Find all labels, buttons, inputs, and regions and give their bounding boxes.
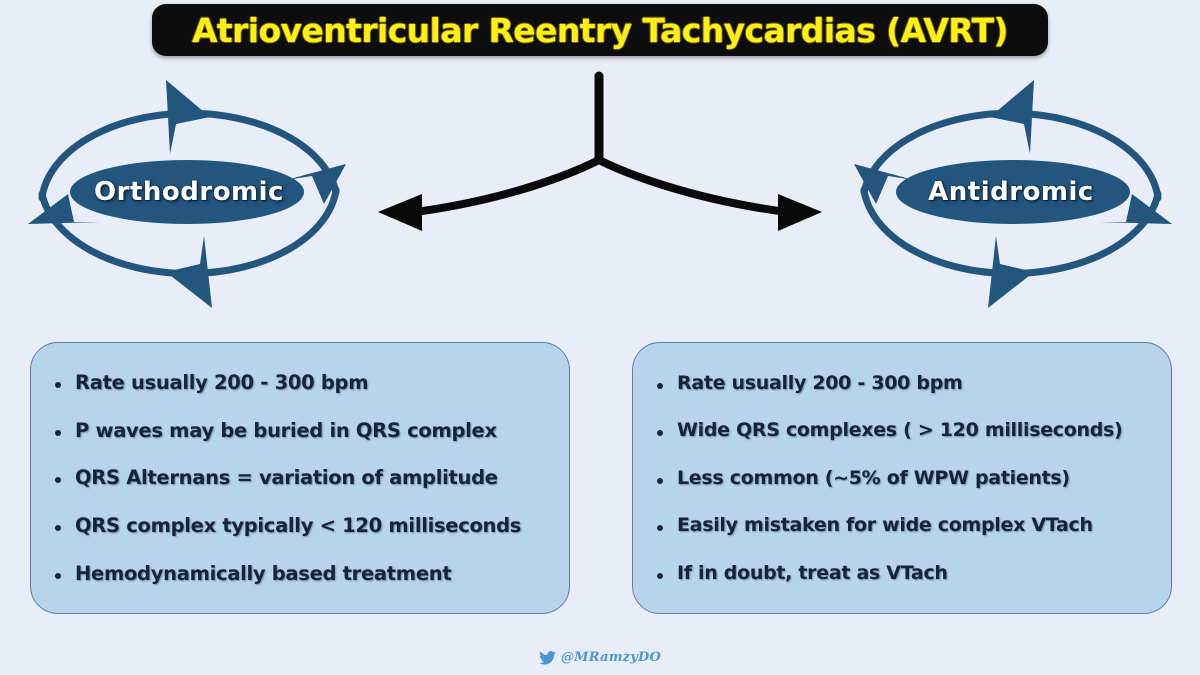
page-title: Atrioventricular Reentry Tachycardias (A… <box>192 11 1008 50</box>
bullet-dot-icon <box>55 525 61 531</box>
bullet-label: QRS complex typically < 120 milliseconds <box>75 514 521 537</box>
bullet-dot-icon <box>55 477 61 483</box>
bullet-dot-icon <box>55 430 61 436</box>
cycle-center-ellipse <box>70 160 304 224</box>
antidromic-cycle-diagram: Antidromic <box>846 72 1176 312</box>
bullet-dot-icon <box>657 383 663 389</box>
list-item: Hemodynamically based treatment <box>49 562 555 585</box>
bullet-label: QRS Alternans = variation of amplitude <box>75 466 498 489</box>
title-bar: Atrioventricular Reentry Tachycardias (A… <box>152 4 1048 56</box>
orthodromic-cycle-diagram: Orthodromic <box>24 72 354 312</box>
cycle-arrowhead-top <box>990 80 1034 154</box>
cycle-arrowhead-bottom <box>166 236 212 308</box>
list-item: Easily mistaken for wide complex VTach <box>651 514 1157 536</box>
watermark: @MRamzyDO <box>0 650 1200 665</box>
bullet-label: P waves may be buried in QRS complex <box>75 419 497 442</box>
twitter-handle: @MRamzyDO <box>561 650 661 665</box>
cycle-arrowhead-bottom <box>988 236 1034 308</box>
bullet-dot-icon <box>657 525 663 531</box>
bullet-label: Easily mistaken for wide complex VTach <box>677 514 1093 536</box>
arrow-arm-left <box>408 160 599 213</box>
bullet-dot-icon <box>55 382 61 388</box>
cycle-arrowhead-top <box>166 80 210 154</box>
bullet-label: If in doubt, treat as VTach <box>677 562 948 584</box>
list-item: Rate usually 200 - 300 bpm <box>49 371 555 394</box>
bullet-dot-icon <box>657 430 663 436</box>
branching-arrow-svg <box>370 60 830 240</box>
list-item: QRS Alternans = variation of amplitude <box>49 466 555 489</box>
arrowhead-left <box>378 194 422 231</box>
antidromic-features-box: Rate usually 200 - 300 bpm Wide QRS comp… <box>632 342 1172 614</box>
list-item: P waves may be buried in QRS complex <box>49 419 555 442</box>
twitter-bird-icon <box>539 651 556 665</box>
list-item: Less common (~5% of WPW patients) <box>651 467 1157 489</box>
bullet-dot-icon <box>657 573 663 579</box>
list-item: If in doubt, treat as VTach <box>651 562 1157 584</box>
bullet-dot-icon <box>657 478 663 484</box>
branching-arrow <box>370 60 830 240</box>
list-item: Wide QRS complexes ( > 120 milliseconds) <box>651 419 1157 441</box>
antidromic-cycle-svg <box>846 72 1176 312</box>
orthodromic-features-box: Rate usually 200 - 300 bpm P waves may b… <box>30 342 570 614</box>
bullet-label: Rate usually 200 - 300 bpm <box>677 372 963 394</box>
arrowhead-right <box>778 194 822 231</box>
list-item: QRS complex typically < 120 milliseconds <box>49 514 555 537</box>
bullet-label: Rate usually 200 - 300 bpm <box>75 371 368 394</box>
bullet-label: Wide QRS complexes ( > 120 milliseconds) <box>677 419 1122 441</box>
bullet-label: Hemodynamically based treatment <box>75 562 451 585</box>
orthodromic-cycle-svg <box>24 72 354 312</box>
bullet-label: Less common (~5% of WPW patients) <box>677 467 1070 489</box>
arrow-arm-right <box>599 160 794 213</box>
cycle-center-ellipse <box>896 160 1130 224</box>
infographic-canvas: Atrioventricular Reentry Tachycardias (A… <box>0 0 1200 675</box>
bullet-dot-icon <box>55 573 61 579</box>
list-item: Rate usually 200 - 300 bpm <box>651 372 1157 394</box>
